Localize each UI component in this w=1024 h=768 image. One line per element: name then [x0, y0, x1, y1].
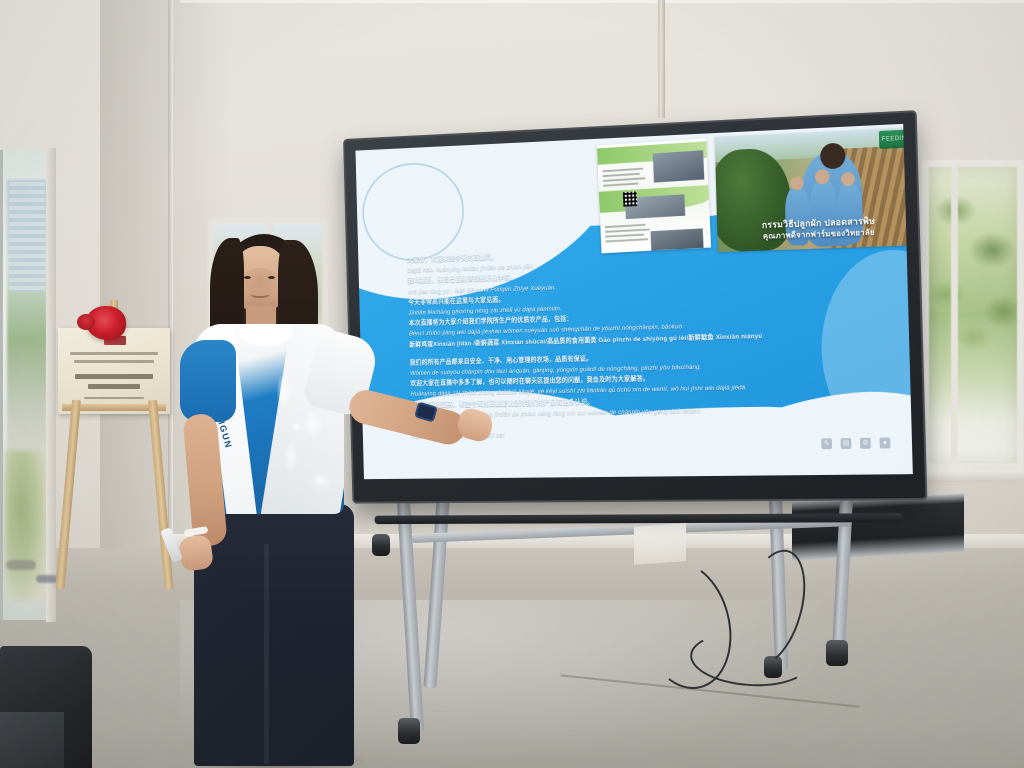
settings-icon[interactable]: ⚙ [860, 438, 871, 449]
plaque-text-line [74, 360, 154, 363]
brochure-text-line [605, 224, 646, 228]
plaque-text-line [75, 374, 153, 379]
presenter-eye [244, 276, 251, 279]
presenter-eye [268, 276, 275, 279]
qr-code-icon [623, 191, 637, 206]
brochure-text-line [603, 177, 645, 182]
presenter-sleeve-left [180, 340, 236, 422]
presenter-hand-left [178, 534, 214, 572]
floor-paper [634, 523, 686, 565]
outdoor-debris [36, 575, 58, 583]
scene-root: FEEDING กรรมวิธีปลูกผัก ปลอดสารพิษ คุณภา… [0, 0, 1024, 768]
foreground-dark-object [0, 712, 64, 768]
slide-toolbar[interactable]: ✎▤⚙● [821, 437, 890, 449]
keyboard-icon[interactable]: ▤ [841, 438, 852, 449]
brochure-text-line [603, 183, 638, 187]
ceiling-line [180, 0, 1024, 3]
feeding-logo: FEEDING [879, 129, 913, 149]
window-mullion [951, 167, 958, 463]
plaque-text-line [84, 397, 144, 399]
brochure-photo [653, 150, 705, 182]
brochure-text-line [605, 228, 649, 232]
brochure-text-line [605, 234, 644, 238]
college-brochure-image [597, 138, 711, 253]
wall-pipe [658, 0, 665, 118]
students-in-field-photo: FEEDING กรรมวิธีปลูกผัก ปลอดสารพิษ คุณภา… [715, 127, 913, 252]
window-with-foliage [922, 160, 1024, 470]
plaque-text-line [88, 384, 140, 389]
sliding-glass-door [0, 150, 52, 620]
window-sill [916, 470, 1024, 482]
brochure-text-line [603, 173, 640, 177]
shirt-collar [240, 324, 292, 346]
more-icon[interactable]: ● [879, 437, 890, 448]
display-bezel: FEEDING กรรมวิธีปลูกผัก ปลอดสารพิษ คุณภา… [343, 110, 927, 503]
pen-icon[interactable]: ✎ [821, 438, 832, 449]
red-ribbon-rosette [86, 306, 126, 340]
outdoor-debris [6, 560, 36, 570]
presenter-smile [250, 290, 270, 298]
interactive-flat-panel-display[interactable]: FEEDING กรรมวิธีปลูกผัก ปลอดสารพิษ คุณภา… [343, 110, 927, 503]
brochure-text-line [606, 238, 648, 242]
presenter-person: AYANA BODHIGUN [150, 228, 420, 768]
door-frame [46, 148, 56, 622]
foliage [929, 167, 1017, 386]
cart-caster [826, 640, 848, 666]
door-blind [9, 182, 45, 292]
plaque-text-line [70, 352, 158, 355]
brochure-text-line [603, 168, 644, 172]
